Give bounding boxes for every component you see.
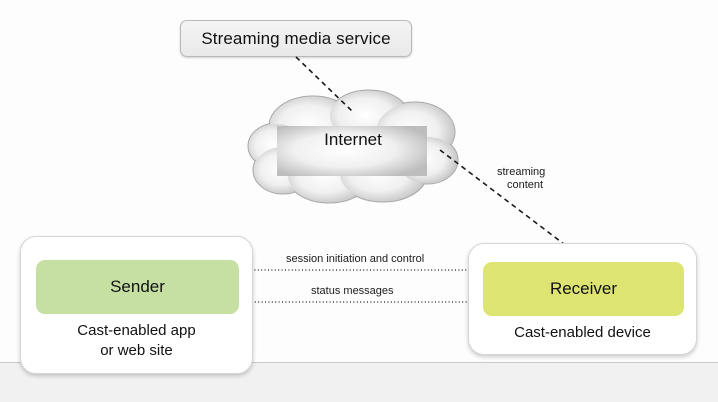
sender-caption: Cast-enabled app or web site: [21, 321, 252, 361]
internet-label: Internet: [243, 130, 463, 150]
sender-caption-line2: or web site: [21, 341, 252, 361]
node-sender-card: Sender Cast-enabled app or web site: [20, 236, 253, 374]
sender-caption-line1: Cast-enabled app: [21, 321, 252, 341]
receiver-caption: Cast-enabled device: [469, 323, 696, 343]
node-receiver-card: Receiver Cast-enabled device: [468, 243, 697, 355]
sender-chip: Sender: [36, 260, 239, 314]
receiver-chip-label: Receiver: [550, 279, 617, 299]
label-streaming-content: streaming content: [497, 166, 545, 192]
label-session-initiation-and-control: session initiation and control: [286, 253, 424, 265]
receiver-caption-line1: Cast-enabled device: [469, 323, 696, 343]
sender-chip-label: Sender: [110, 277, 165, 297]
diagram-canvas: Streaming media service: [0, 0, 718, 402]
label-status-messages: status messages: [311, 285, 394, 297]
label-streaming-content-line2: content: [497, 179, 545, 192]
streaming-media-service-label: Streaming media service: [201, 29, 390, 49]
receiver-chip: Receiver: [483, 262, 684, 316]
node-streaming-media-service: Streaming media service: [180, 20, 412, 57]
label-streaming-content-line1: streaming: [497, 166, 545, 178]
